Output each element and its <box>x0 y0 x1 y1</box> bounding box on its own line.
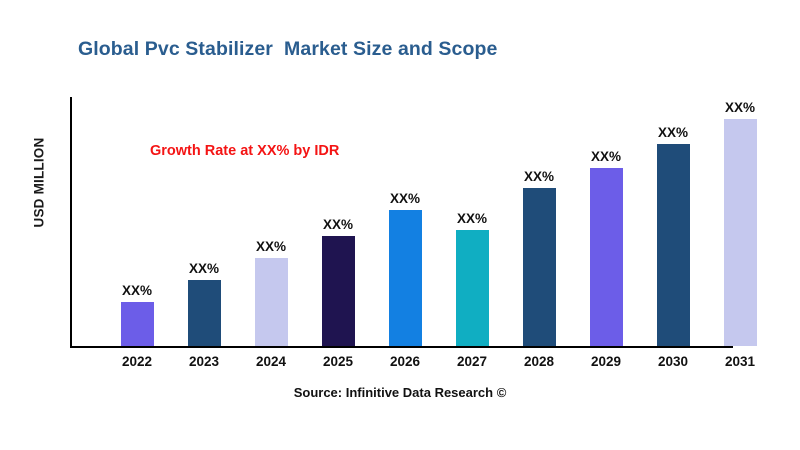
source-caption: Source: Infinitive Data Research © <box>0 385 800 400</box>
x-tick-2023: 2023 <box>171 354 237 369</box>
bar-value-label-2029: XX% <box>573 149 639 164</box>
chart-container: Global Pvc Stabilizer Market Size and Sc… <box>0 0 800 450</box>
x-tick-2026: 2026 <box>372 354 438 369</box>
y-axis-label: USD MILLION <box>32 123 47 243</box>
bar-value-label-2022: XX% <box>104 283 170 298</box>
bar-2031[interactable] <box>724 119 757 346</box>
x-tick-2028: 2028 <box>506 354 572 369</box>
bar-value-label-2031: XX% <box>707 100 773 115</box>
page-title: Global Pvc Stabilizer Market Size and Sc… <box>78 38 497 61</box>
bar-value-label-2030: XX% <box>640 125 706 140</box>
bar-2029[interactable] <box>590 168 623 346</box>
bar-value-label-2023: XX% <box>171 261 237 276</box>
bar-value-label-2025: XX% <box>305 217 371 232</box>
x-tick-2030: 2030 <box>640 354 706 369</box>
bar-value-label-2027: XX% <box>439 211 505 226</box>
growth-rate-annotation: Growth Rate at XX% by IDR <box>150 143 339 159</box>
x-tick-2025: 2025 <box>305 354 371 369</box>
x-tick-2031: 2031 <box>707 354 773 369</box>
x-tick-2029: 2029 <box>573 354 639 369</box>
bar-2022[interactable] <box>121 302 154 346</box>
bar-2025[interactable] <box>322 236 355 346</box>
bar-2024[interactable] <box>255 258 288 346</box>
x-tick-2024: 2024 <box>238 354 304 369</box>
x-tick-2027: 2027 <box>439 354 505 369</box>
bar-value-label-2028: XX% <box>506 169 572 184</box>
bar-2028[interactable] <box>523 188 556 346</box>
bar-2026[interactable] <box>389 210 422 346</box>
bar-2027[interactable] <box>456 230 489 346</box>
plot-area: XX%XX%XX%XX%XX%XX%XX%XX%XX%XX% <box>70 97 800 347</box>
bar-2030[interactable] <box>657 144 690 346</box>
bar-value-label-2026: XX% <box>372 191 438 206</box>
x-tick-2022: 2022 <box>104 354 170 369</box>
bar-value-label-2024: XX% <box>238 239 304 254</box>
bar-2023[interactable] <box>188 280 221 346</box>
